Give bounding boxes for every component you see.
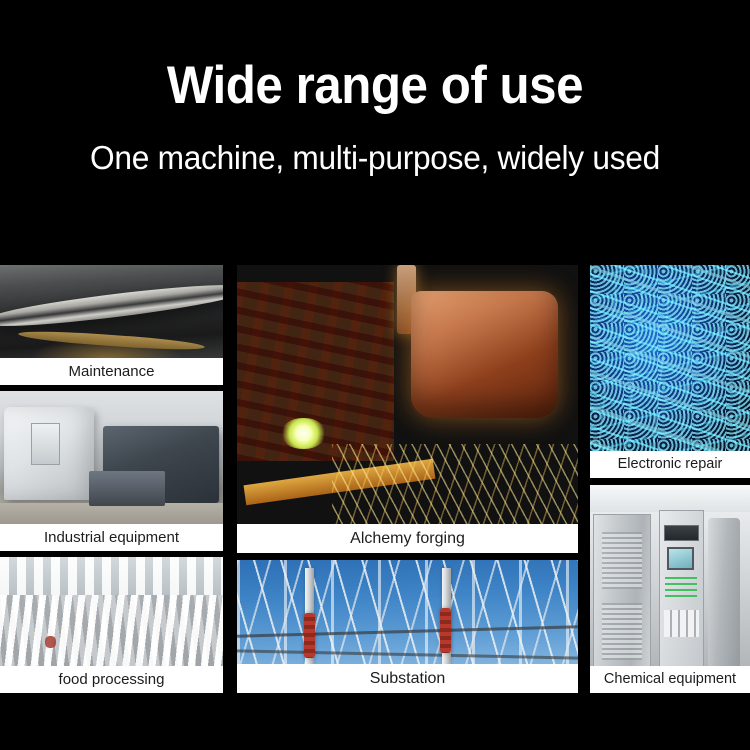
header: Wide range of use One machine, multi-pur… <box>0 0 750 176</box>
collage-caption-alchemy-forging: Alchemy forging <box>237 524 578 553</box>
collage-tile-electronic-repair[interactable]: Electronic repair <box>590 265 750 478</box>
image-collage: Maintenance Industrial equipment food pr… <box>0 265 750 693</box>
page-subtitle: One machine, multi-purpose, widely used <box>15 140 735 176</box>
collage-caption-maintenance: Maintenance <box>0 358 223 385</box>
collage-tile-food-processing[interactable]: food processing <box>0 557 223 693</box>
collage-caption-electronic-repair: Electronic repair <box>590 451 750 478</box>
collage-caption-industrial-equipment: Industrial equipment <box>0 524 223 551</box>
collage-caption-chemical-equipment: Chemical equipment <box>590 666 750 693</box>
collage-tile-chemical-equipment[interactable]: Chemical equipment <box>590 485 750 693</box>
photo-electronic-repair <box>590 265 750 478</box>
page-title: Wide range of use <box>26 58 724 114</box>
photo-chemical-equipment <box>590 485 750 693</box>
collage-tile-maintenance[interactable]: Maintenance <box>0 265 223 385</box>
collage-tile-industrial-equipment[interactable]: Industrial equipment <box>0 391 223 551</box>
photo-alchemy-forging <box>237 265 578 553</box>
collage-caption-substation: Substation <box>237 664 578 693</box>
collage-tile-alchemy-forging[interactable]: Alchemy forging <box>237 265 578 553</box>
collage-tile-substation[interactable]: Substation <box>237 560 578 693</box>
collage-caption-food-processing: food processing <box>0 666 223 693</box>
